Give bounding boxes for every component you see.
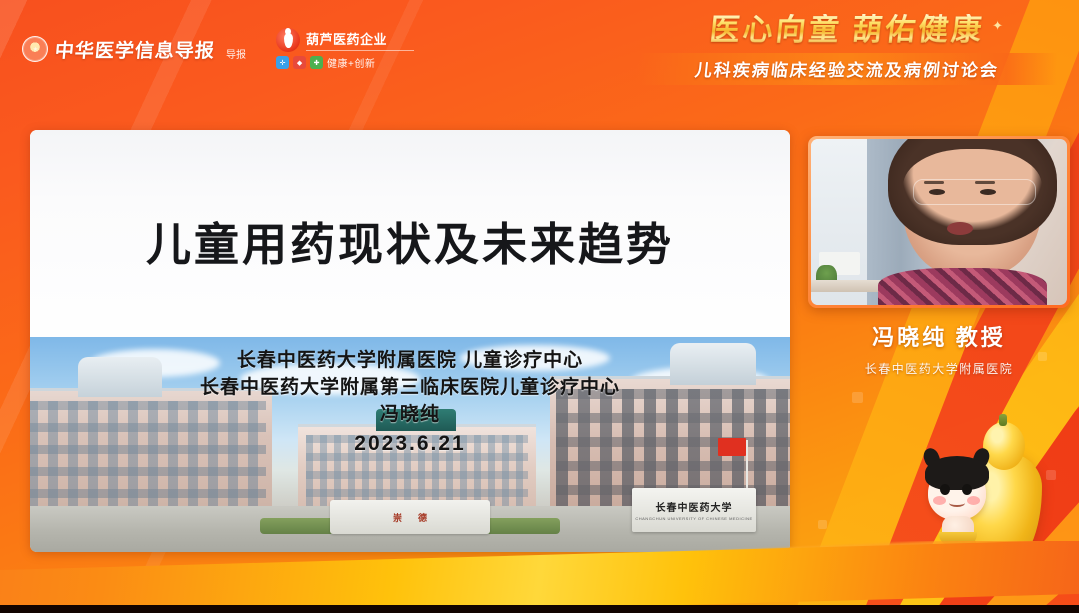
publisher-logo: ★ 中华医学信息导报 导报 bbox=[22, 36, 246, 63]
bottom-letterbox bbox=[0, 605, 1079, 613]
caption-line-3: 冯晓纯 bbox=[30, 402, 790, 429]
event-title: 医心向童 葫佑健康 bbox=[635, 14, 1058, 47]
presentation-slide[interactable]: 儿童用药现状及未来趋势 崇 德 长春中 bbox=[30, 130, 790, 552]
bottom-ribbon bbox=[0, 541, 1079, 613]
publisher-logo-suffix: 导报 bbox=[226, 46, 246, 61]
broadcast-stage: ★ 中华医学信息导报 导报 葫芦医药企业 ✛ ◆ ✚ 健康+创新 bbox=[0, 0, 1079, 613]
sponsor-logo-divider bbox=[306, 50, 414, 51]
gourd-badge-icon bbox=[276, 28, 300, 52]
sponsor-mini-icon-c: ✚ bbox=[310, 56, 323, 69]
bokeh-particle bbox=[852, 392, 863, 403]
sponsor-logo-name: 葫芦医药企业 bbox=[306, 29, 414, 48]
speaker-organization: 长春中医药大学附属医院 bbox=[808, 360, 1070, 377]
campus-monument: 崇 德 bbox=[330, 500, 490, 534]
monument-text-right: 德 bbox=[418, 511, 427, 524]
seal-emblem-icon: ★ bbox=[22, 36, 48, 62]
gate-sign-cn: 长春中医药大学 bbox=[656, 499, 733, 514]
bokeh-particle bbox=[818, 520, 827, 529]
caption-line-1: 长春中医药大学附属医院 儿童诊疗中心 bbox=[30, 348, 790, 375]
sponsor-logo-tagline: 健康+创新 bbox=[327, 55, 375, 70]
event-subtitle-band: 儿科疾病临床经验交流及病例讨论会 bbox=[637, 53, 1057, 85]
slide-title: 儿童用药现状及未来趋势 bbox=[30, 208, 790, 273]
publisher-logo-name: 中华医学信息导报 bbox=[54, 36, 216, 63]
header-logo-row: ★ 中华医学信息导报 导报 葫芦医药企业 ✛ ◆ ✚ 健康+创新 bbox=[22, 28, 414, 70]
speaker-webcam[interactable] bbox=[811, 139, 1067, 305]
speaker-video-frame[interactable] bbox=[808, 136, 1070, 308]
speaker-info: 冯晓纯 教授 长春中医药大学附属医院 bbox=[808, 320, 1070, 377]
gate-sign-en: CHANGCHUN UNIVERSITY OF CHINESE MEDICINE bbox=[635, 516, 752, 521]
speaker-name: 冯晓纯 教授 bbox=[808, 320, 1070, 352]
sponsor-mini-icon-b: ◆ bbox=[293, 56, 306, 69]
event-subtitle: 儿科疾病临床经验交流及病例讨论会 bbox=[636, 56, 1059, 81]
campus-gate-sign: 长春中医药大学 CHANGCHUN UNIVERSITY OF CHINESE … bbox=[632, 488, 756, 532]
sponsor-mini-icon-a: ✛ bbox=[276, 56, 289, 69]
caption-line-2: 长春中医药大学附属第三临床医院儿童诊疗中心 bbox=[30, 375, 790, 402]
slide-caption-block: 长春中医药大学附属医院 儿童诊疗中心 长春中医药大学附属第三临床医院儿童诊疗中心… bbox=[30, 348, 790, 459]
monument-text-left: 崇 bbox=[393, 511, 402, 524]
caption-date: 2023.6.21 bbox=[30, 429, 790, 459]
event-header: ✦ 医心向童 葫佑健康 儿科疾病临床经验交流及病例讨论会 bbox=[637, 14, 1057, 85]
sponsor-logo: 葫芦医药企业 ✛ ◆ ✚ 健康+创新 bbox=[276, 28, 414, 70]
